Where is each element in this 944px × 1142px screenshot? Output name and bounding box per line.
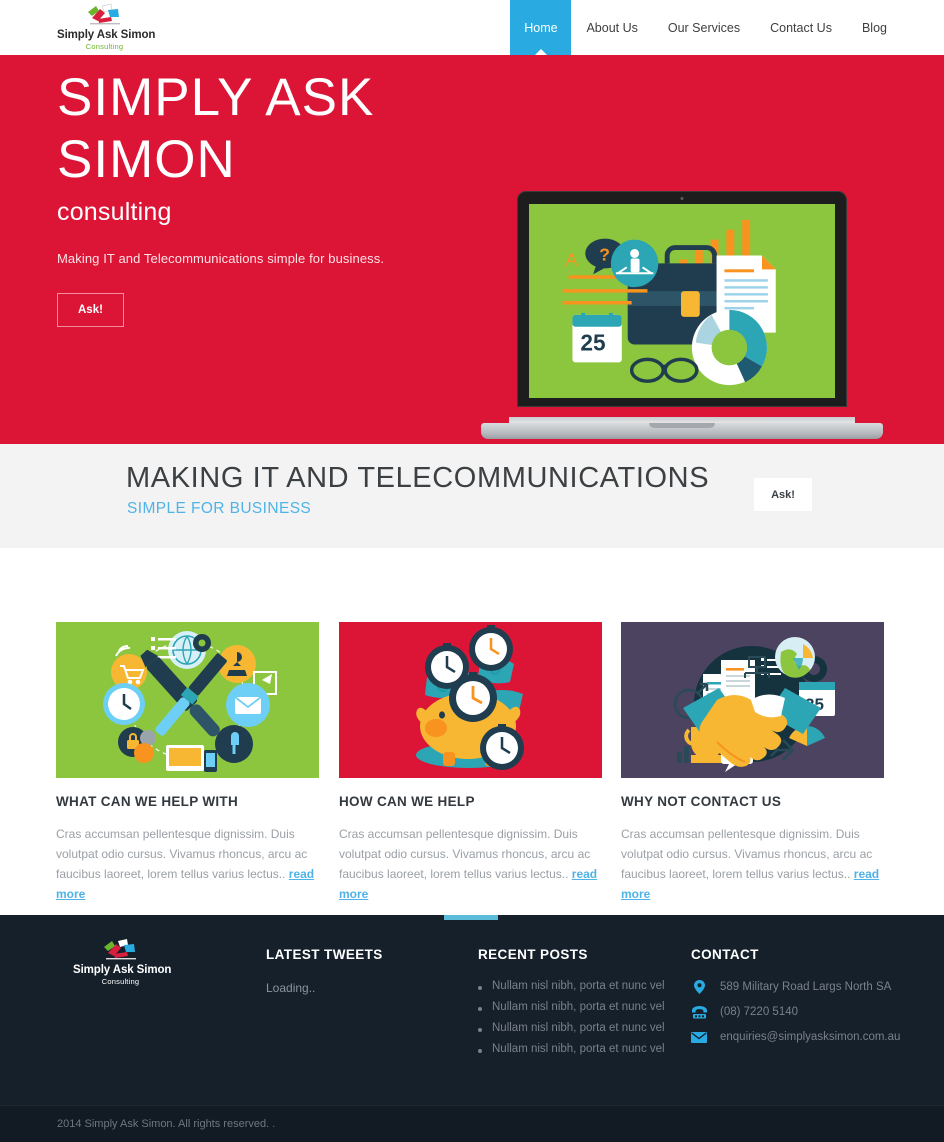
hero-text-block: SIMPLY ASK SIMON consulting Making IT an… [57, 67, 477, 327]
card-title: HOW CAN WE HELP [339, 794, 602, 809]
hero-banner: SIMPLY ASK SIMON consulting Making IT an… [0, 55, 944, 444]
card-title: WHAT CAN WE HELP WITH [56, 794, 319, 809]
hero-laptop-illustration: A ? [481, 191, 883, 439]
hero-description: Making IT and Telecommunications simple … [57, 251, 477, 266]
nav-item-our-services[interactable]: Our Services [653, 0, 755, 55]
nav-item-about-us[interactable]: About Us [571, 0, 652, 55]
contact-address-text: 589 Military Road Largs North SA [720, 981, 891, 993]
nav-item-about-us-label: About Us [586, 21, 637, 35]
main-navigation: Home About Us Our Services Contact Us Bl… [510, 0, 902, 55]
hero-subtitle: consulting [57, 195, 477, 229]
copyright-bar: 2014 Simply Ask Simon. All rights reserv… [0, 1105, 944, 1142]
card-image-piggy-bank[interactable] [339, 622, 602, 778]
footer-column-contact: CONTACT 589 Military Road Largs North SA… [691, 947, 911, 1055]
footer-column-tweets: LATEST TWEETS Loading.. [266, 947, 446, 995]
list-item[interactable]: Nullam nisl nibh, porta et nunc vel [478, 1043, 678, 1055]
contact-phone-text[interactable]: (08) 7220 5140 [720, 1006, 798, 1018]
feature-card: 25 [621, 622, 884, 904]
nav-item-our-services-label: Our Services [668, 21, 740, 35]
location-pin-icon [691, 980, 707, 994]
feature-cards-section: WHAT CAN WE HELP WITH Cras accumsan pell… [0, 548, 944, 915]
site-logo[interactable]: Simply Ask Simon Consulting [57, 2, 152, 52]
nav-active-caret-icon [535, 49, 547, 55]
card-body-text: Cras accumsan pellentesque dignissim. Du… [621, 827, 872, 881]
site-header: Simply Ask Simon Consulting Home About U… [0, 0, 944, 55]
list-item[interactable]: Nullam nisl nibh, porta et nunc vel [478, 1022, 678, 1034]
abstract-arrows-logo-icon [78, 2, 132, 28]
footer-logo-brand-tagline: Consulting [73, 977, 168, 987]
contact-email-text[interactable]: enquiries@simplyasksimon.com.au [720, 1031, 900, 1043]
card-body: Cras accumsan pellentesque dignissim. Du… [56, 824, 319, 904]
nav-item-home-label: Home [524, 21, 557, 35]
card-image-handshake[interactable]: 25 [621, 622, 884, 778]
card-body: Cras accumsan pellentesque dignissim. Du… [339, 824, 602, 904]
contact-email-row: enquiries@simplyasksimon.com.au [691, 1030, 911, 1044]
footer-accent-bar [444, 915, 498, 920]
hero-ask-button[interactable]: Ask! [57, 293, 124, 327]
svg-text:25: 25 [580, 329, 605, 355]
tagline-ask-button[interactable]: Ask! [754, 478, 812, 511]
svg-text:A: A [566, 249, 578, 269]
abstract-arrows-logo-icon [94, 937, 148, 963]
footer-column-posts: RECENT POSTS Nullam nisl nibh, porta et … [478, 947, 678, 1064]
recent-posts-title: RECENT POSTS [478, 947, 678, 962]
contact-phone-row: (08) 7220 5140 [691, 1005, 911, 1019]
footer-logo-brand-name: Simply Ask Simon [73, 964, 168, 976]
laptop-camera-icon [681, 197, 684, 200]
svg-text:?: ? [599, 244, 610, 264]
tagline-section: MAKING IT AND TELECOMMUNICATIONS SIMPLE … [0, 444, 944, 548]
logo-brand-name: Simply Ask Simon [57, 29, 152, 41]
nav-item-blog-label: Blog [862, 21, 887, 35]
contact-address-row: 589 Military Road Largs North SA [691, 980, 911, 994]
feature-card: HOW CAN WE HELP Cras accumsan pellentesq… [339, 622, 602, 904]
logo-brand-tagline: Consulting [57, 42, 152, 52]
footer-logo[interactable]: Simply Ask Simon Consulting [73, 937, 168, 987]
list-item[interactable]: Nullam nisl nibh, porta et nunc vel [478, 980, 678, 992]
contact-list: 589 Military Road Largs North SA (08) 72… [691, 980, 911, 1044]
feature-card: WHAT CAN WE HELP WITH Cras accumsan pell… [56, 622, 319, 904]
card-image-tools[interactable] [56, 622, 319, 778]
envelope-icon [691, 1030, 707, 1044]
contact-title: CONTACT [691, 947, 911, 962]
nav-item-blog[interactable]: Blog [847, 0, 902, 55]
nav-item-home[interactable]: Home [510, 0, 571, 55]
nav-item-contact-us-label: Contact Us [770, 21, 832, 35]
laptop-screen: A ? [529, 204, 835, 398]
nav-item-contact-us[interactable]: Contact Us [755, 0, 847, 55]
telephone-icon [691, 1005, 707, 1019]
latest-tweets-title: LATEST TWEETS [266, 947, 446, 962]
hero-title: SIMPLY ASK SIMON [57, 67, 477, 191]
page-root: Simply Ask Simon Consulting Home About U… [0, 0, 944, 1142]
laptop-base [481, 423, 883, 439]
card-title: WHY NOT CONTACT US [621, 794, 884, 809]
card-body: Cras accumsan pellentesque dignissim. Du… [621, 824, 884, 904]
recent-posts-list: Nullam nisl nibh, porta et nunc vel Null… [478, 980, 678, 1055]
list-item[interactable]: Nullam nisl nibh, porta et nunc vel [478, 1001, 678, 1013]
laptop-lid: A ? [517, 191, 847, 407]
tagline-title: MAKING IT AND TELECOMMUNICATIONS [126, 462, 709, 495]
copyright-text: 2014 Simply Ask Simon. All rights reserv… [57, 1118, 275, 1130]
card-body-text: Cras accumsan pellentesque dignissim. Du… [339, 827, 590, 881]
tagline-subtitle: SIMPLE FOR BUSINESS [127, 500, 311, 518]
card-body-text: Cras accumsan pellentesque dignissim. Du… [56, 827, 307, 881]
tweets-loading-status: Loading.. [266, 981, 446, 995]
site-footer: Simply Ask Simon Consulting LATEST TWEET… [0, 915, 944, 1142]
